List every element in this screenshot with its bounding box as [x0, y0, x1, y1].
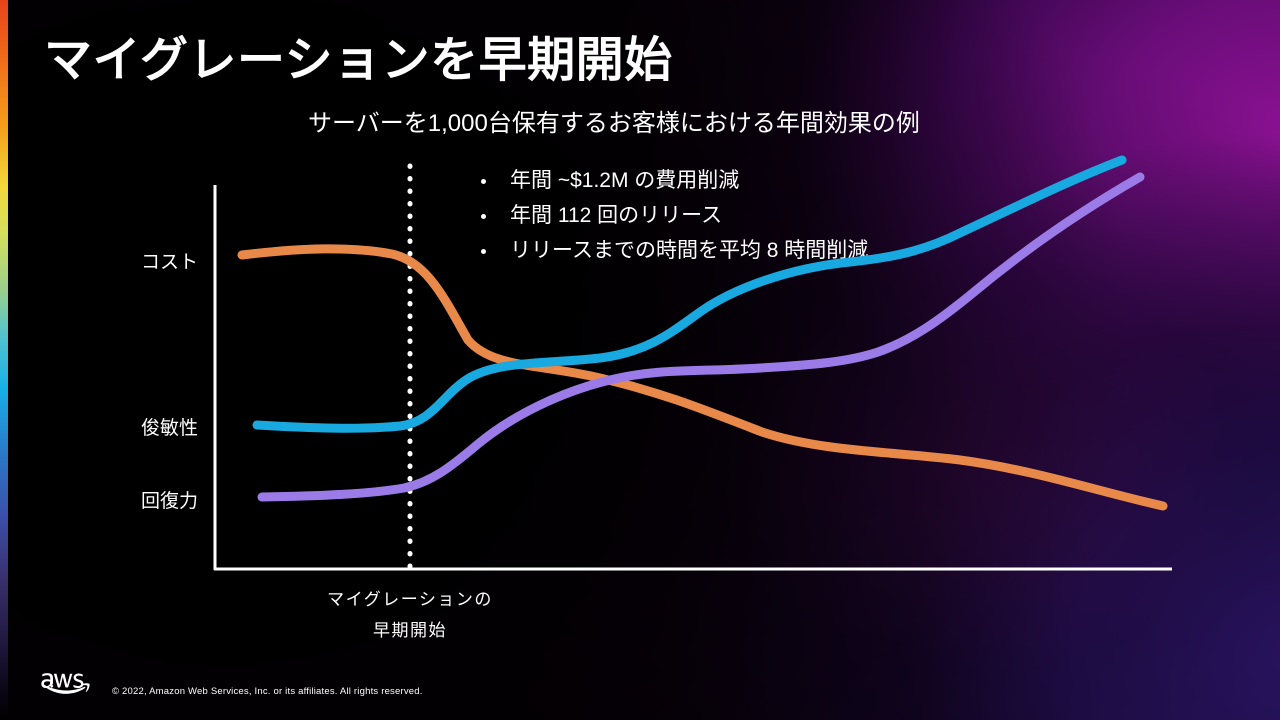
list-item-label: 年間 ~$1.2M の費用削減: [510, 169, 739, 192]
list-item: 年間 112 回のリリース: [476, 201, 868, 231]
footer: © 2022, Amazon Web Services, Inc. or its…: [40, 668, 423, 700]
bullet-dot-icon: [481, 249, 486, 254]
slide-canvas: マイグレーションを早期開始 サーバーを1,000台保有するお客様における年間効果…: [0, 0, 1280, 720]
bullet-dot-icon: [481, 179, 486, 184]
left-rainbow-accent-strip: [0, 0, 8, 720]
list-item-label: 年間 112 回のリリース: [510, 204, 722, 227]
copyright-text: © 2022, Amazon Web Services, Inc. or its…: [112, 686, 423, 700]
page-title: マイグレーションを早期開始: [44, 35, 673, 88]
bullet-dot-icon: [481, 214, 486, 219]
list-item: リリースまでの時間を平均 8 時間削減: [476, 236, 868, 266]
benefits-bullet-list: 年間 ~$1.2M の費用削減 年間 112 回のリリース リリースまでの時間を…: [476, 166, 868, 271]
list-item: 年間 ~$1.2M の費用削減: [476, 166, 868, 196]
aws-logo: [40, 668, 92, 700]
list-item-label: リリースまでの時間を平均 8 時間削減: [510, 239, 868, 262]
page-subtitle: サーバーを1,000台保有するお客様における年間効果の例: [308, 103, 920, 138]
